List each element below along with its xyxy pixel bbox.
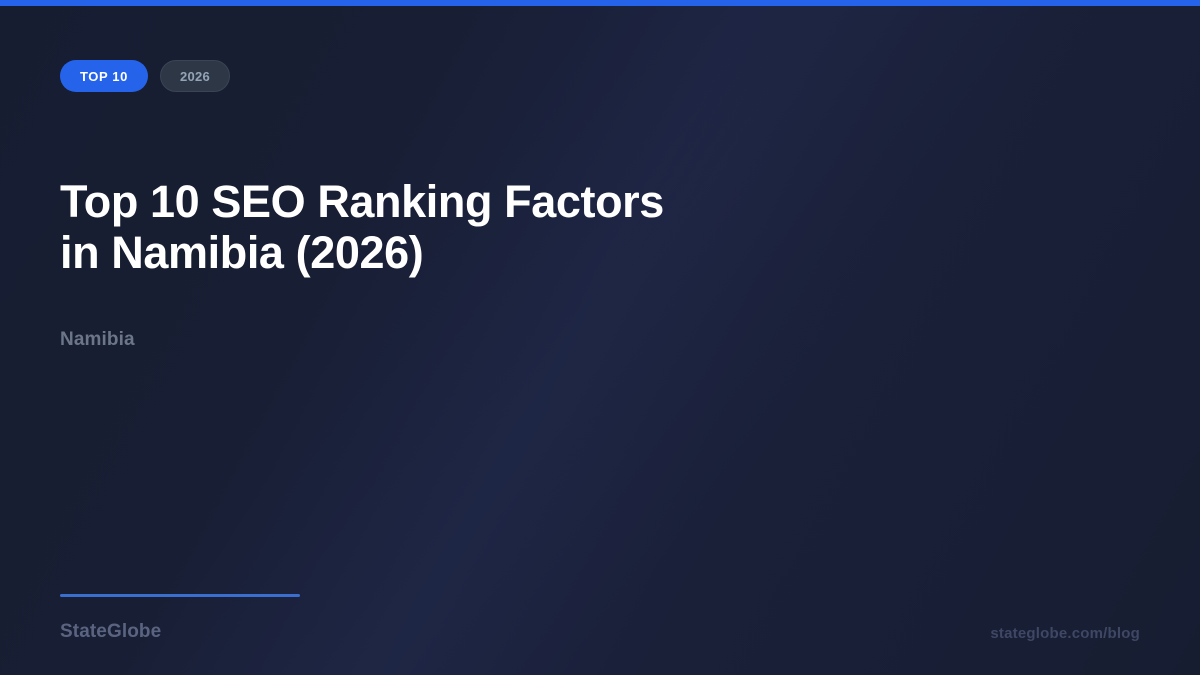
badge-row: TOP 10 2026: [60, 60, 230, 92]
badge-year-2026[interactable]: 2026: [160, 60, 230, 92]
brand-name: StateGlobe: [60, 621, 161, 643]
card-content: TOP 10 2026 Top 10 SEO Ranking Factors i…: [0, 0, 1200, 675]
page-title-line-2: in Namibia (2026): [60, 227, 780, 278]
footer-divider: [60, 594, 300, 597]
page-title-line-1: Top 10 SEO Ranking Factors: [60, 176, 780, 227]
subtitle-region: Namibia: [60, 329, 135, 351]
blog-cover-card: TOP 10 2026 Top 10 SEO Ranking Factors i…: [0, 0, 1200, 675]
badge-top-10[interactable]: TOP 10: [60, 60, 148, 92]
site-url[interactable]: stateglobe.com/blog: [990, 625, 1140, 642]
page-title: Top 10 SEO Ranking Factors in Namibia (2…: [60, 176, 780, 278]
top-accent-bar: [0, 0, 1200, 6]
